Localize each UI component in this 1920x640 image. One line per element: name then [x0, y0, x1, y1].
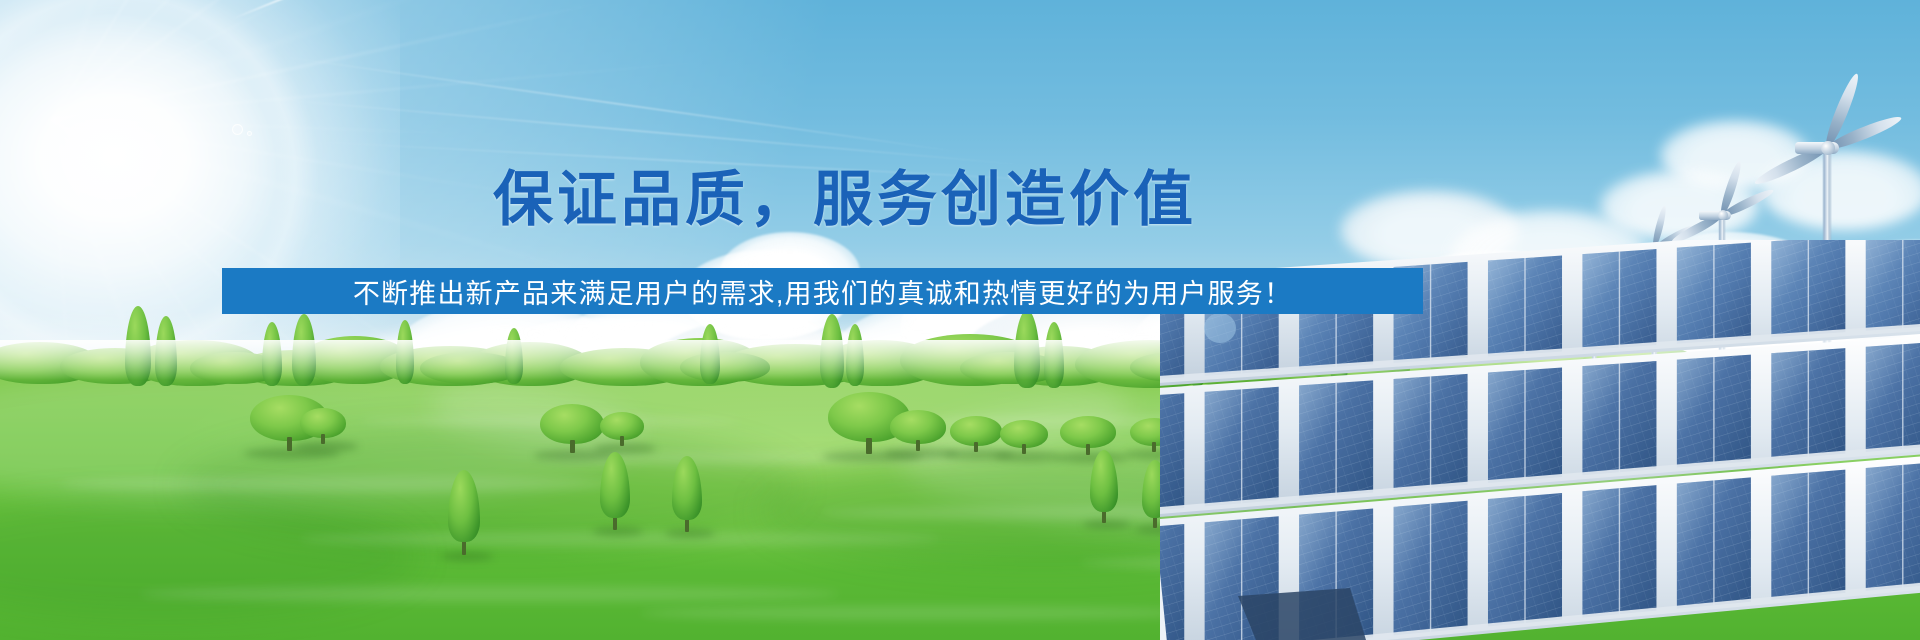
solar-sun-glare-spot [1204, 313, 1236, 343]
banner-subtitle-bar: 不断推出新产品来满足用户的需求,用我们的真诚和热情更好的为用户服务！ [222, 268, 1423, 314]
solar-glare [1582, 249, 1656, 350]
solar-glare [1205, 387, 1279, 507]
solar-glare [1866, 462, 1920, 591]
solar-glare [1488, 367, 1562, 483]
hero-banner: 保证品质，服务创造价值 不断推出新产品来满足用户的需求,用我们的真诚和热情更好的… [0, 0, 1920, 640]
solar-glare [1866, 342, 1920, 452]
solar-understructure [1238, 588, 1366, 640]
solar-glare [1677, 477, 1751, 608]
solar-glare [1488, 255, 1562, 356]
solar-glare [1771, 240, 1845, 337]
solar-glare [1582, 485, 1656, 617]
solar-glare [1160, 393, 1184, 514]
solar-glare [1582, 361, 1656, 475]
solar-glare [1771, 470, 1845, 600]
solar-glare [1299, 380, 1373, 498]
solar-glare [1394, 374, 1468, 491]
solar-glare [1488, 493, 1562, 627]
subtitle-text: 不断推出新产品来满足用户的需求,用我们的真诚和热情更好的为用户服务！ [353, 272, 1292, 311]
solar-glare [1677, 355, 1751, 468]
solar-glare [1866, 240, 1920, 331]
solar-glare [1677, 243, 1751, 344]
turbine-hub [1821, 141, 1835, 155]
solar-glare [1394, 501, 1468, 636]
solar-glare [1771, 348, 1845, 460]
